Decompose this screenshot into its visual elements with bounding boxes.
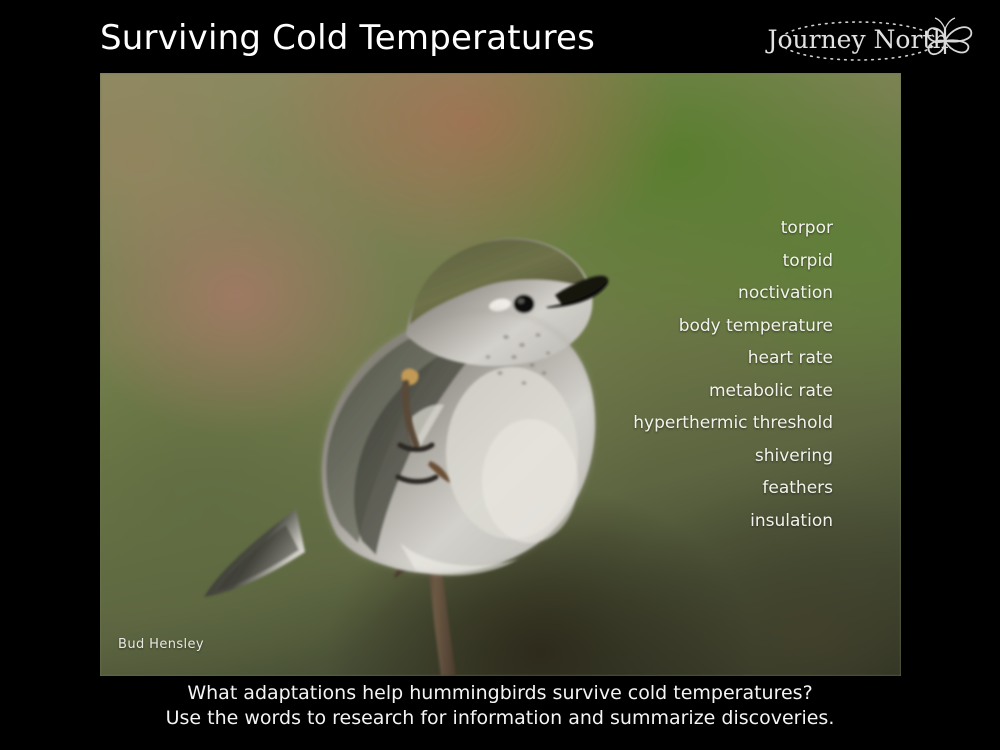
word-list-item[interactable]: noctivation [738, 277, 833, 310]
vocabulary-word-list: torpor torpid noctivation body temperatu… [633, 212, 833, 537]
photo-credit: Bud Hensley [118, 637, 204, 652]
caption-line-2: Use the words to research for informatio… [0, 706, 1000, 731]
word-list-item[interactable]: shivering [755, 440, 833, 473]
journey-north-logo[interactable]: Journey North [762, 10, 982, 68]
logo-wordmark: Journey North [764, 25, 948, 54]
word-list-item[interactable]: torpid [783, 245, 833, 278]
word-list-item[interactable]: metabolic rate [709, 375, 833, 408]
word-list-item[interactable]: body temperature [679, 310, 833, 343]
hummingbird-photo: Bud Hensley torpor torpid noctivation bo… [100, 73, 901, 676]
caption-line-1: What adaptations help hummingbirds survi… [0, 681, 1000, 706]
word-list-item[interactable]: torpor [781, 212, 833, 245]
slide-root: Surviving Cold Temperatures Journey Nort… [0, 0, 1000, 750]
word-list-item[interactable]: feathers [762, 472, 833, 505]
page-title: Surviving Cold Temperatures [100, 16, 595, 60]
word-list-item[interactable]: hyperthermic threshold [633, 407, 833, 440]
word-list-item[interactable]: insulation [750, 505, 833, 538]
word-list-item[interactable]: heart rate [748, 342, 833, 375]
slide-caption: What adaptations help hummingbirds survi… [0, 681, 1000, 731]
